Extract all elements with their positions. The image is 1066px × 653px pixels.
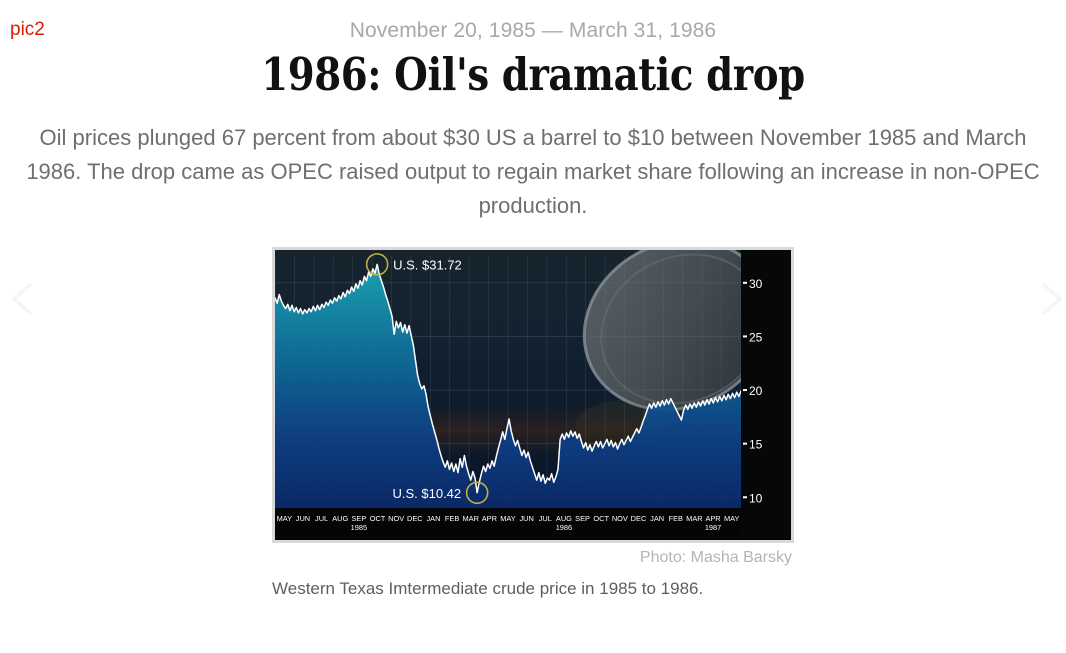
svg-text:JUL: JUL <box>539 514 552 523</box>
svg-text:FEB: FEB <box>669 514 683 523</box>
svg-text:1985: 1985 <box>351 523 367 532</box>
carousel-next-button[interactable] <box>1028 277 1066 321</box>
svg-text:MAY: MAY <box>724 514 740 523</box>
svg-text:U.S. $10.42: U.S. $10.42 <box>392 486 461 501</box>
article-container: November 20, 1985 — March 31, 1986 1986:… <box>0 0 1066 599</box>
svg-text:APR: APR <box>482 514 497 523</box>
chevron-right-icon <box>1028 277 1066 321</box>
article-standfirst: Oil prices plunged 67 percent from about… <box>13 121 1053 223</box>
svg-text:10: 10 <box>749 491 763 505</box>
svg-text:30: 30 <box>749 277 763 291</box>
svg-text:SEP: SEP <box>351 514 366 523</box>
svg-text:20: 20 <box>749 384 763 398</box>
svg-text:JUN: JUN <box>519 514 533 523</box>
photo-credit: Photo: Masha Barsky <box>272 543 794 567</box>
svg-text:AUG: AUG <box>556 514 572 523</box>
svg-text:FEB: FEB <box>445 514 459 523</box>
carousel-prev-button[interactable] <box>2 277 46 321</box>
svg-text:MAY: MAY <box>277 514 293 523</box>
svg-text:JAN: JAN <box>650 514 664 523</box>
oil-price-chart: 1015202530MAYJUNJULAUGSEPOCTNOVDECJANFEB… <box>272 247 794 543</box>
svg-text:JAN: JAN <box>426 514 440 523</box>
svg-text:NOV: NOV <box>388 514 404 523</box>
svg-text:NOV: NOV <box>612 514 628 523</box>
svg-text:APR: APR <box>705 514 720 523</box>
svg-text:1986: 1986 <box>556 523 572 532</box>
svg-text:25: 25 <box>749 331 763 345</box>
svg-text:1987: 1987 <box>705 523 721 532</box>
chevron-left-icon <box>2 277 46 321</box>
svg-text:MAR: MAR <box>463 514 479 523</box>
svg-text:MAR: MAR <box>686 514 702 523</box>
svg-text:JUL: JUL <box>315 514 328 523</box>
image-watermark-label: pic2 <box>10 20 45 39</box>
svg-text:OCT: OCT <box>593 514 609 523</box>
svg-text:MAY: MAY <box>500 514 516 523</box>
svg-text:DEC: DEC <box>631 514 647 523</box>
page-title: 1986: Oil's dramatic drop <box>75 49 992 101</box>
svg-text:OCT: OCT <box>370 514 386 523</box>
svg-text:DEC: DEC <box>407 514 423 523</box>
svg-text:AUG: AUG <box>332 514 348 523</box>
article-date-range: November 20, 1985 — March 31, 1986 <box>0 18 1066 43</box>
svg-text:JUN: JUN <box>296 514 310 523</box>
svg-text:SEP: SEP <box>575 514 590 523</box>
svg-text:U.S. $31.72: U.S. $31.72 <box>393 258 462 273</box>
svg-text:15: 15 <box>749 438 763 452</box>
oil-price-chart-svg: 1015202530MAYJUNJULAUGSEPOCTNOVDECJANFEB… <box>275 250 791 540</box>
chart-caption: Western Texas Imtermediate crude price i… <box>272 567 794 599</box>
chart-figure: 1015202530MAYJUNJULAUGSEPOCTNOVDECJANFEB… <box>272 247 794 599</box>
